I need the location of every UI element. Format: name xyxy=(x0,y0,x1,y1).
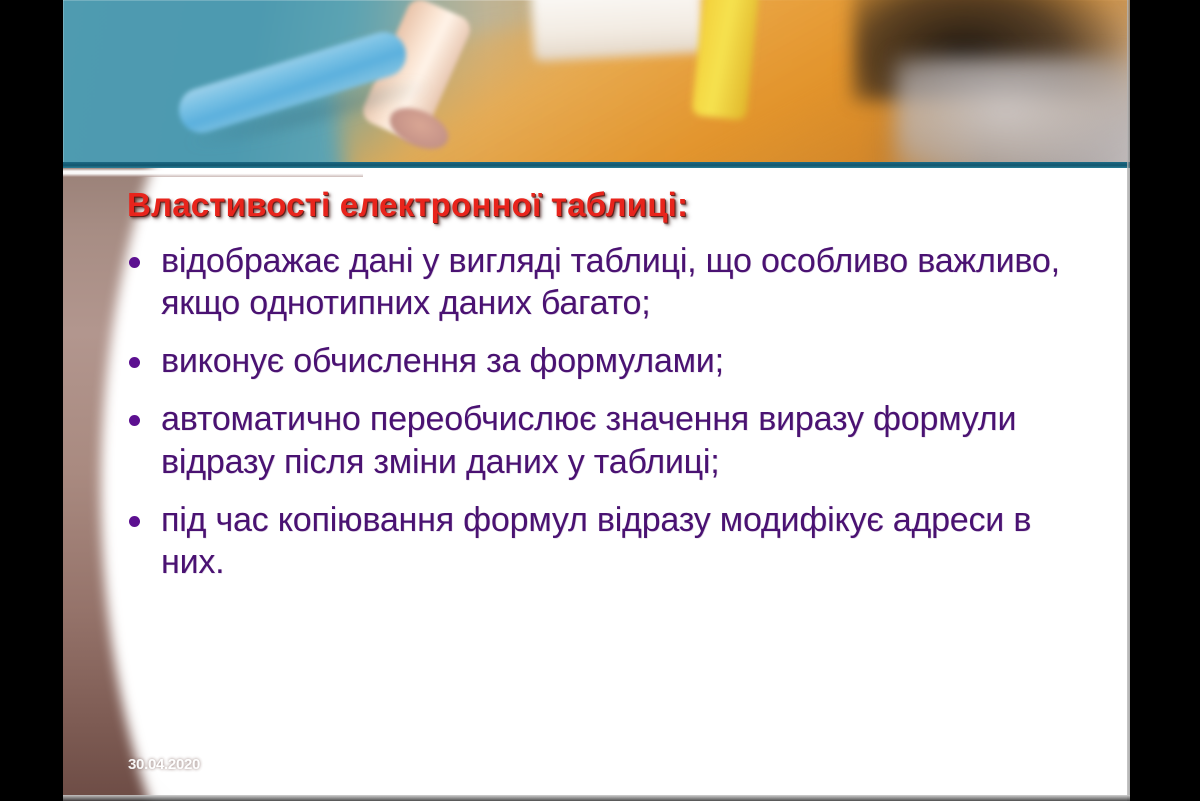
list-item-label: виконує обчислення за формулами; xyxy=(161,340,1075,382)
letterbox-right-edge xyxy=(1130,0,1200,801)
presentation-slide: Властивості електронної таблиці: відобра… xyxy=(63,0,1130,801)
list-item: виконує обчислення за формулами; xyxy=(115,340,1075,382)
slide-content: Властивості електронної таблиці: відобра… xyxy=(63,168,1130,801)
list-item: автоматично переобчислює значення виразу… xyxy=(115,398,1075,482)
list-item: відображає дані у вигляді таблиці, що ос… xyxy=(115,240,1075,324)
list-item: під час копіювання формул відразу модифі… xyxy=(115,499,1075,583)
properties-bullet-list: відображає дані у вигляді таблиці, що ос… xyxy=(115,240,1075,599)
bullet-dot-icon xyxy=(129,357,140,368)
white-paper-block xyxy=(530,0,705,62)
grey-background-blob xyxy=(895,57,1130,168)
slide-screen: Властивості електронної таблиці: відобра… xyxy=(0,0,1200,801)
slide-bottom-seam xyxy=(63,795,1130,801)
header-banner-image xyxy=(63,0,1130,168)
bullet-dot-icon xyxy=(129,257,140,268)
page-title: Властивості електронної таблиці: xyxy=(127,186,688,224)
bullet-dot-icon xyxy=(129,415,140,426)
list-item-label: відображає дані у вигляді таблиці, що ос… xyxy=(161,240,1075,324)
letterbox-left-edge xyxy=(0,0,63,801)
list-item-label: автоматично переобчислює значення виразу… xyxy=(161,398,1075,482)
slide-right-seam xyxy=(1127,0,1130,801)
bullet-dot-icon xyxy=(129,516,140,527)
list-item-label: під час копіювання формул відразу модифі… xyxy=(161,499,1075,583)
slide-date-stamp: 30.04.2020 xyxy=(128,756,200,773)
